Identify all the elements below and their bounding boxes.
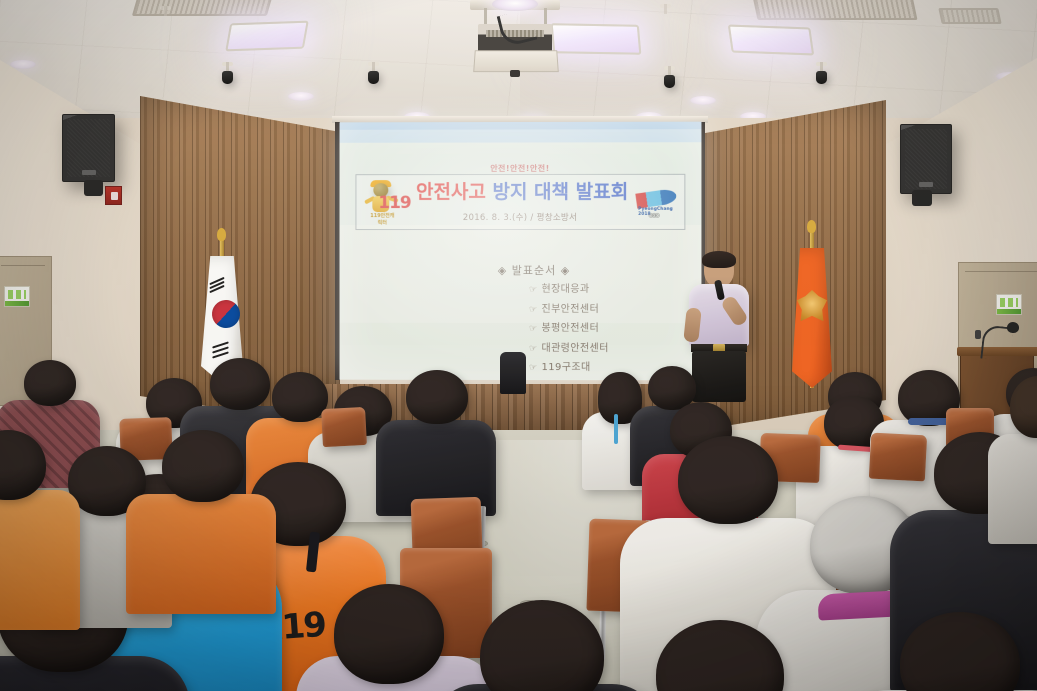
slide-date-organization: 2016. 8. 3.(수) / 평창소방서: [356, 211, 684, 223]
list-item: ☞119구조대: [529, 358, 609, 373]
pointer-icon: ☞: [529, 324, 537, 334]
slide-kicker-text: 안전!안전!안전!: [356, 163, 684, 174]
ceiling-panel-light-1: [225, 21, 309, 52]
agenda-item-label: 진부안전센터: [541, 304, 599, 315]
agenda-item-label: 대관령안전센터: [541, 343, 608, 354]
torso: [988, 434, 1037, 544]
pointer-icon: ☞: [529, 344, 537, 354]
slide-title-part1: 안전사고: [416, 181, 486, 203]
ceiling-spotlight-5: [160, 6, 171, 28]
head: [678, 436, 778, 524]
ceiling-downlight-2: [288, 92, 314, 101]
ceiling-downlight-6: [690, 96, 716, 105]
list-item: ☞봉평안전센터: [529, 319, 609, 334]
wall-speaker-left: [62, 114, 115, 182]
ceiling-spotlight-1: [222, 62, 233, 84]
agenda-heading: ◈ 발표순서 ◈: [459, 262, 609, 278]
slide-title-banner: 안전!안전!안전! 119 119안전캐릭터 안전사고 방지 대책 발표회: [355, 174, 685, 230]
slide-title: 안전사고 방지 대책 발표회: [402, 183, 642, 202]
ceiling-spotlight-3: [664, 66, 675, 88]
head: [162, 430, 244, 502]
pointer-icon: ☞: [529, 305, 537, 315]
speaker-mount-left: [84, 180, 103, 196]
list-item: ☞현장대응과: [529, 280, 609, 295]
collar-band: [908, 418, 950, 425]
flagpole-finial-left: [217, 228, 226, 241]
ceiling-downlight-1: [10, 60, 36, 69]
flagpole-finial-right: [807, 220, 816, 233]
presenter-hair: [702, 251, 736, 268]
agenda-item-label: 현장대응과: [541, 284, 589, 295]
door-sign-right: [996, 294, 1022, 315]
auditorium-presentation-photo: 안전!안전!안전! 119 119안전캐릭터 안전사고 방지 대책 발표회: [0, 0, 1037, 691]
standing-figure-background: [500, 352, 526, 394]
door-sign-left: [4, 286, 30, 307]
speaker-mount-right: [912, 190, 932, 206]
ceiling-spotlight-2: [368, 62, 379, 84]
ceiling-air-vent-right: [752, 0, 917, 20]
agenda-item-label: 봉평안전센터: [541, 323, 599, 334]
ceiling-projector: [462, 0, 568, 76]
head: [272, 372, 328, 422]
ceiling-spotlight-6: [660, 4, 671, 26]
ceiling-air-vent-left: [132, 0, 273, 16]
head: [406, 370, 468, 424]
presentation-slide: 안전!안전!안전! 119 119안전캐릭터 안전사고 방지 대책 발표회: [340, 122, 702, 381]
torso: [0, 490, 80, 630]
microphone-head-icon: [1007, 322, 1019, 333]
list-item: ☞대관령안전센터: [529, 339, 609, 354]
head: [24, 360, 76, 406]
torso: [126, 494, 276, 614]
list-item: ☞진부안전센터: [529, 300, 609, 315]
head: [334, 584, 444, 684]
ceiling-air-vent-far-right: [938, 8, 1001, 24]
pointer-icon: ☞: [529, 363, 537, 373]
fire-alarm-box: [105, 186, 122, 205]
ceiling-spotlight-4: [816, 62, 827, 84]
slide-title-part2: 방지 대책 발표회: [492, 181, 628, 203]
lanyard: [614, 414, 618, 444]
pointer-icon: ☞: [529, 285, 537, 295]
presenter-trousers: [692, 351, 746, 402]
head: [210, 358, 270, 410]
chair: [321, 407, 367, 447]
ceiling-panel-light-3: [728, 25, 814, 56]
chair: [869, 433, 927, 482]
wall-speaker-right: [900, 124, 952, 194]
projection-screen: 안전!안전!안전! 119 119안전캐릭터 안전사고 방지 대책 발표회: [340, 122, 702, 381]
door-handle-right[interactable]: [975, 330, 981, 339]
agenda-item-label: 119구조대: [541, 362, 590, 373]
agenda-list: ☞현장대응과 ☞진부안전센터 ☞봉평안전센터 ☞대관령안전센터 ☞119구조대: [529, 280, 609, 378]
